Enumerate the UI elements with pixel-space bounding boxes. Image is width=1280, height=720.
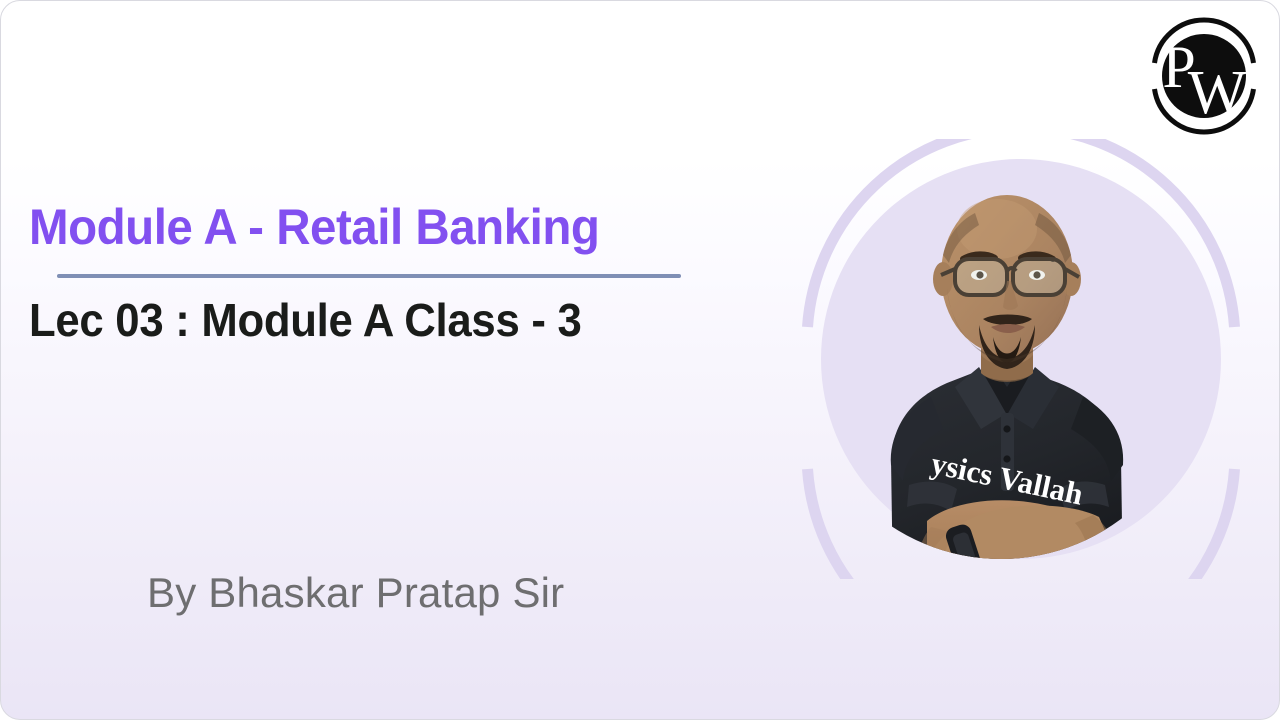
instructor-photo: ysics Vallah (831, 129, 1211, 589)
lecture-title-slide: P W (0, 0, 1280, 720)
presenter-credit: By Bhaskar Pratap Sir (147, 569, 564, 617)
title-block: Module A - Retail Banking Lec 03 : Modul… (29, 201, 809, 345)
lecture-title: Lec 03 : Module A Class - 3 (29, 296, 770, 345)
instructor-portrait-zone: ysics Vallah (801, 139, 1241, 579)
svg-text:W: W (1188, 59, 1247, 127)
title-divider (57, 274, 681, 278)
pw-logo: P W (1143, 15, 1265, 137)
course-title: Module A - Retail Banking (29, 201, 770, 254)
